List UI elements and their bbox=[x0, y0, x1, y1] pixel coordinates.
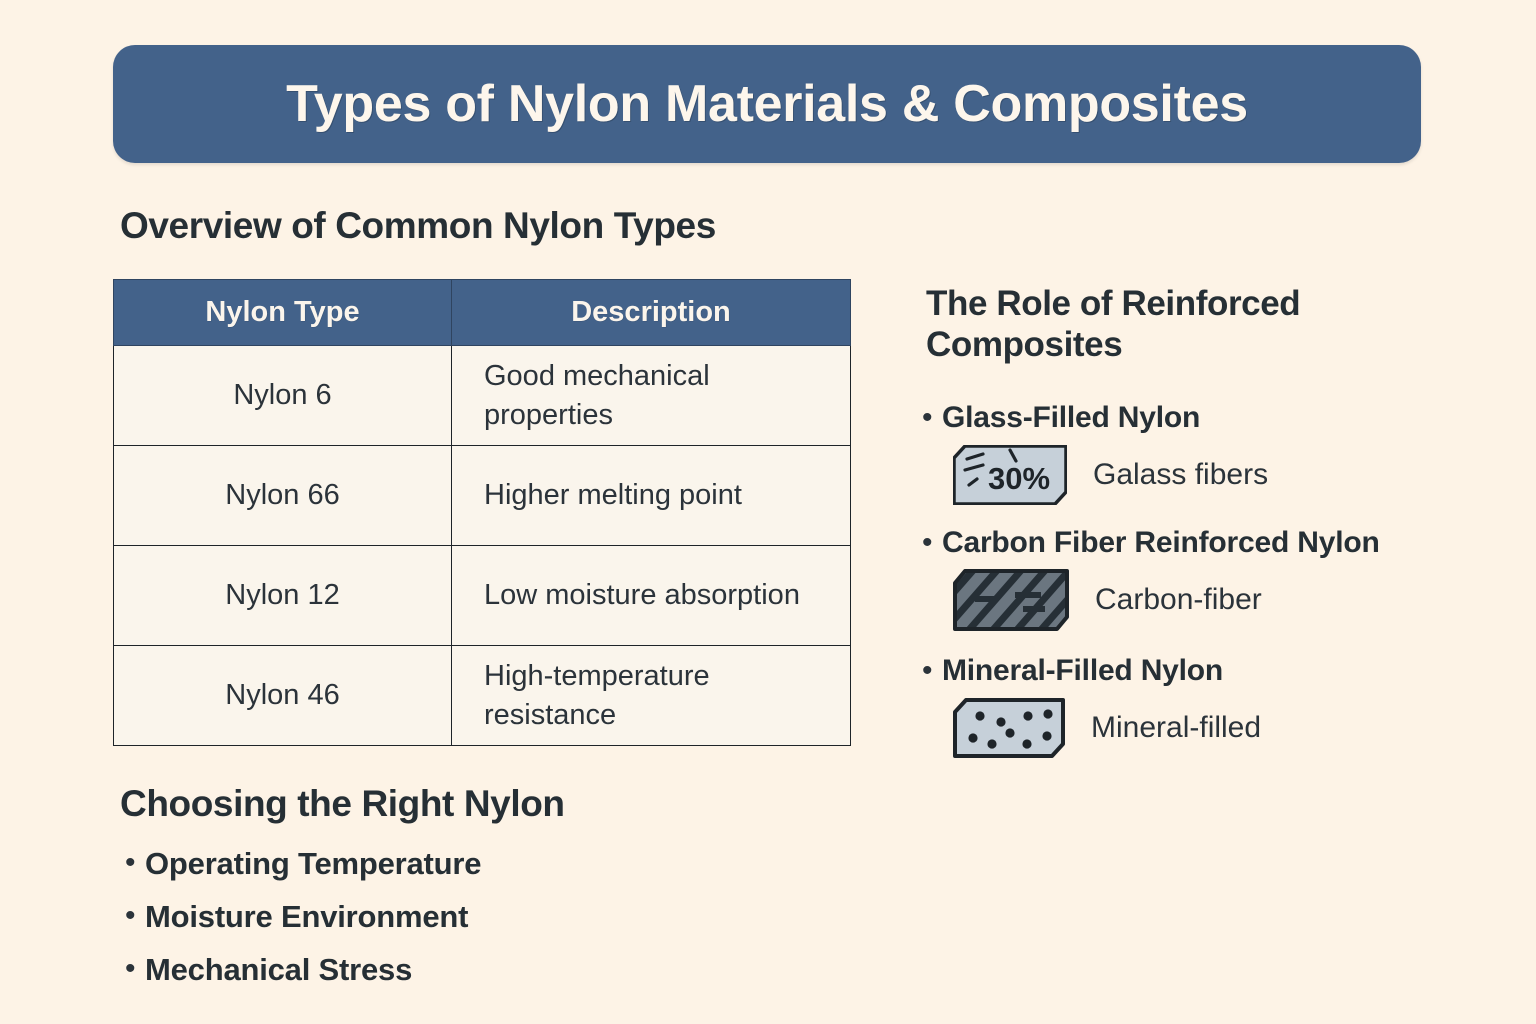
page-title: Types of Nylon Materials & Composites bbox=[286, 74, 1248, 134]
list-item-label: Carbon Fiber Reinforced Nylon bbox=[942, 525, 1380, 560]
table-row: Nylon 46 High-temperature resistance bbox=[114, 646, 851, 746]
bullet-dot-icon: • bbox=[125, 898, 145, 935]
list-item-label: Operating Temperature bbox=[145, 845, 481, 882]
bullet-dot-icon: • bbox=[125, 845, 145, 882]
overview-heading: Overview of Common Nylon Types bbox=[120, 205, 716, 247]
list-item: • Mineral-Filled Nylon bbox=[922, 653, 1422, 758]
table-row: Nylon 12 Low moisture absorption bbox=[114, 546, 851, 646]
nylon-types-table: Nylon Type Description Nylon 6 Good mech… bbox=[113, 279, 851, 746]
mineral-filled-swatch-icon bbox=[953, 698, 1065, 758]
cell-nylon-type: Nylon 12 bbox=[114, 546, 452, 646]
table-header-row: Nylon Type Description bbox=[114, 280, 851, 346]
cell-description: Higher melting point bbox=[452, 446, 851, 546]
cell-description: Low moisture absorption bbox=[452, 546, 851, 646]
swatch-value-label: 30% bbox=[988, 461, 1050, 496]
table-row: Nylon 6 Good mechanical properties bbox=[114, 346, 851, 446]
list-item-label: Glass-Filled Nylon bbox=[942, 400, 1200, 435]
reinforced-composites-list: • Glass-Filled Nylon 30% bbox=[922, 400, 1422, 772]
column-header-nylon-type: Nylon Type bbox=[114, 280, 452, 346]
bullet-dot-icon: • bbox=[922, 653, 942, 690]
carbon-fiber-swatch-icon bbox=[953, 569, 1069, 631]
list-item-label: Mechanical Stress bbox=[145, 951, 412, 988]
column-header-description: Description bbox=[452, 280, 851, 346]
swatch-caption: Galass fibers bbox=[1093, 458, 1268, 492]
list-item: • Moisture Environment bbox=[125, 898, 745, 935]
cell-description: High-temperature resistance bbox=[452, 646, 851, 746]
swatch-caption: Carbon-fiber bbox=[1095, 583, 1262, 617]
title-banner: Types of Nylon Materials & Composites bbox=[113, 45, 1421, 163]
cell-nylon-type: Nylon 6 bbox=[114, 346, 452, 446]
list-item: • Glass-Filled Nylon 30% bbox=[922, 400, 1422, 505]
list-item: • Mechanical Stress bbox=[125, 951, 745, 988]
cell-nylon-type: Nylon 66 bbox=[114, 446, 452, 546]
bullet-dot-icon: • bbox=[922, 525, 942, 562]
infographic-canvas: Types of Nylon Materials & Composites Ov… bbox=[0, 0, 1536, 1024]
bullet-dot-icon: • bbox=[922, 400, 942, 437]
choosing-heading: Choosing the Right Nylon bbox=[120, 783, 565, 825]
bullet-dot-icon: • bbox=[125, 951, 145, 988]
list-item-label: Moisture Environment bbox=[145, 898, 468, 935]
cell-description: Good mechanical properties bbox=[452, 346, 851, 446]
choosing-criteria-list: • Operating Temperature • Moisture Envir… bbox=[125, 845, 745, 1005]
composites-heading: The Role of Reinforced Composites bbox=[926, 283, 1406, 366]
cell-nylon-type: Nylon 46 bbox=[114, 646, 452, 746]
glass-fiber-swatch-icon: 30% bbox=[953, 445, 1067, 505]
table-row: Nylon 66 Higher melting point bbox=[114, 446, 851, 546]
list-item: • Carbon Fiber Reinforced Nylon bbox=[922, 525, 1422, 632]
list-item-label: Mineral-Filled Nylon bbox=[942, 653, 1223, 688]
swatch-caption: Mineral-filled bbox=[1091, 711, 1261, 745]
list-item: • Operating Temperature bbox=[125, 845, 745, 882]
